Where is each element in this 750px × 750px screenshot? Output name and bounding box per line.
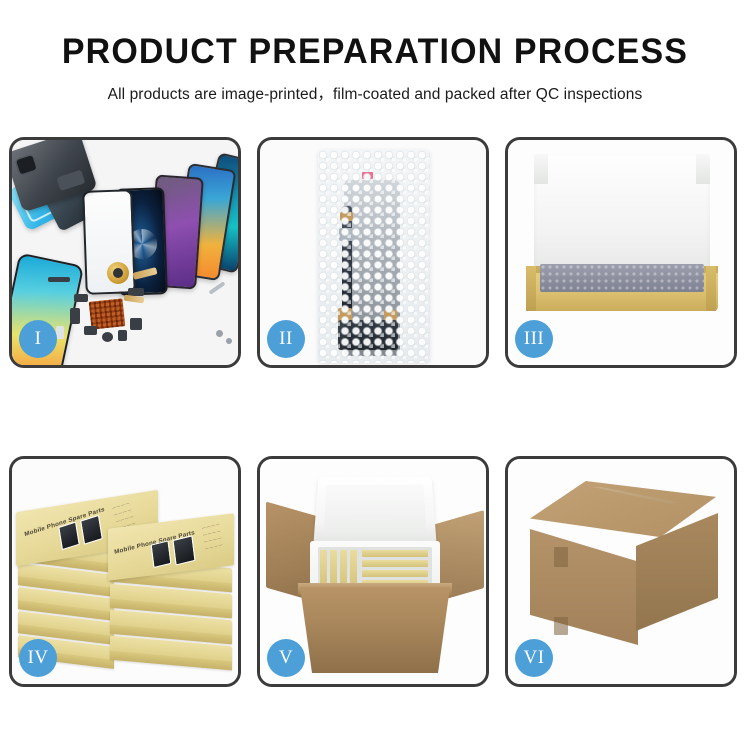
copper-mesh-part (89, 298, 126, 329)
step-panel-1: I (9, 137, 241, 368)
box-window-left (151, 540, 172, 568)
step-badge-5: V (267, 639, 305, 677)
step-panel-4: Mobile Phone Spare Parts — — — — — — — —… (9, 456, 241, 687)
step-badge-1: I (19, 320, 57, 358)
box-window-right (80, 515, 103, 545)
page-title: PRODUCT PREPARATION PROCESS (11, 34, 739, 71)
small-part (130, 318, 142, 330)
bubble-wrap-bag (318, 150, 430, 363)
step-badge-4: IV (19, 639, 57, 677)
carton-tape-lower (554, 617, 568, 635)
header: PRODUCT PREPARATION PROCESS All products… (0, 0, 750, 104)
product-preparation-infographic: PRODUCT PREPARATION PROCESS All products… (0, 0, 750, 750)
small-part (56, 326, 64, 339)
box-edge-left (526, 266, 536, 311)
screw-part (216, 330, 223, 337)
white-foam-cover (534, 154, 710, 276)
small-part (48, 277, 70, 282)
retail-box-item (362, 570, 428, 577)
retail-box-item (362, 550, 428, 557)
box-window-left (58, 521, 80, 550)
step-panel-2: II (257, 137, 489, 368)
carton-tape-upper (554, 547, 568, 567)
step-panel-6: VI (505, 456, 737, 687)
box-spec-line: — — — — (205, 543, 223, 552)
box-window-right (172, 535, 195, 565)
small-part (102, 332, 113, 342)
grey-foam-padding (540, 264, 704, 292)
small-part (84, 326, 97, 335)
small-part (74, 294, 88, 302)
carton-body (300, 587, 450, 673)
step-badge-6: VI (515, 639, 553, 677)
step-badge-3: III (515, 320, 553, 358)
step-panel-5: V (257, 456, 489, 687)
steps-grid: I II (9, 137, 741, 687)
retail-box-item (362, 560, 428, 567)
foam-box-lid (313, 477, 436, 543)
small-part (118, 330, 127, 341)
step-panel-3: III (505, 137, 737, 368)
speaker-part (107, 262, 129, 284)
box-edge-right (706, 266, 716, 311)
page-subtitle: All products are image-printed，film-coat… (0, 82, 750, 104)
small-part (70, 308, 80, 324)
step-badge-2: II (267, 320, 305, 358)
screw-part (226, 338, 232, 344)
